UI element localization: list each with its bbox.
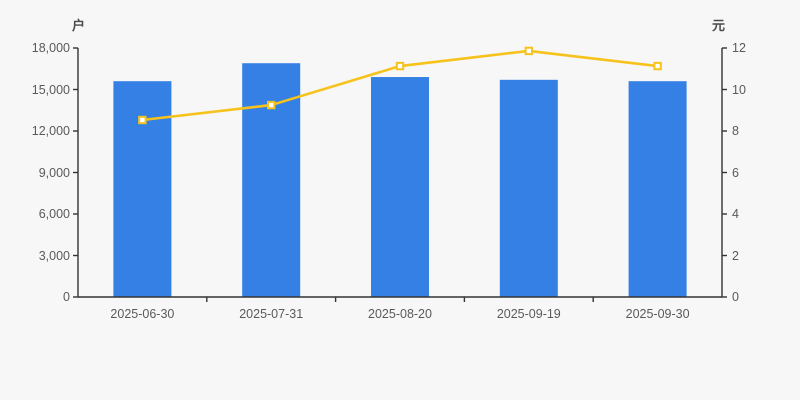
left-axis-tick-label: 6,000 xyxy=(8,208,70,221)
x-axis-label-2025-08-20: 2025-08-20 xyxy=(368,308,432,321)
bar-2025-09-30 xyxy=(629,81,687,297)
bar-2025-06-30 xyxy=(113,81,171,297)
right-axis-tick-label: 4 xyxy=(732,208,739,221)
right-axis-tick-label: 8 xyxy=(732,125,739,138)
right-axis-tick-label: 10 xyxy=(732,83,746,96)
left-axis-tick-label: 3,000 xyxy=(8,249,70,262)
x-axis-label-2025-07-31: 2025-07-31 xyxy=(239,308,303,321)
chart-plot-area xyxy=(0,0,800,400)
x-axis-label-2025-09-30: 2025-09-30 xyxy=(626,308,690,321)
line-marker-2025-07-31 xyxy=(268,102,274,108)
left-axis-tick-label: 18,000 xyxy=(8,42,70,55)
line-marker-2025-09-30 xyxy=(654,63,660,69)
right-axis-tick-label: 6 xyxy=(732,166,739,179)
line-marker-2025-09-19 xyxy=(526,48,532,54)
bar-2025-08-20 xyxy=(371,77,429,297)
x-axis-label-2025-09-19: 2025-09-19 xyxy=(497,308,561,321)
right-axis-tick-label: 2 xyxy=(732,249,739,262)
x-axis-label-2025-06-30: 2025-06-30 xyxy=(110,308,174,321)
left-axis-tick-label: 0 xyxy=(8,291,70,304)
line-marker-2025-06-30 xyxy=(139,117,145,123)
bar-series-group xyxy=(113,63,686,297)
chart-container: 户 元 03,0006,0009,00012,00015,00018,00002… xyxy=(0,0,800,400)
line-marker-2025-08-20 xyxy=(397,63,403,69)
right-axis-tick-label: 12 xyxy=(732,42,746,55)
right-axis-tick-label: 0 xyxy=(732,291,739,304)
left-axis-tick-label: 15,000 xyxy=(8,83,70,96)
bar-2025-09-19 xyxy=(500,80,558,297)
left-axis-tick-label: 12,000 xyxy=(8,125,70,138)
left-axis-tick-label: 9,000 xyxy=(8,166,70,179)
